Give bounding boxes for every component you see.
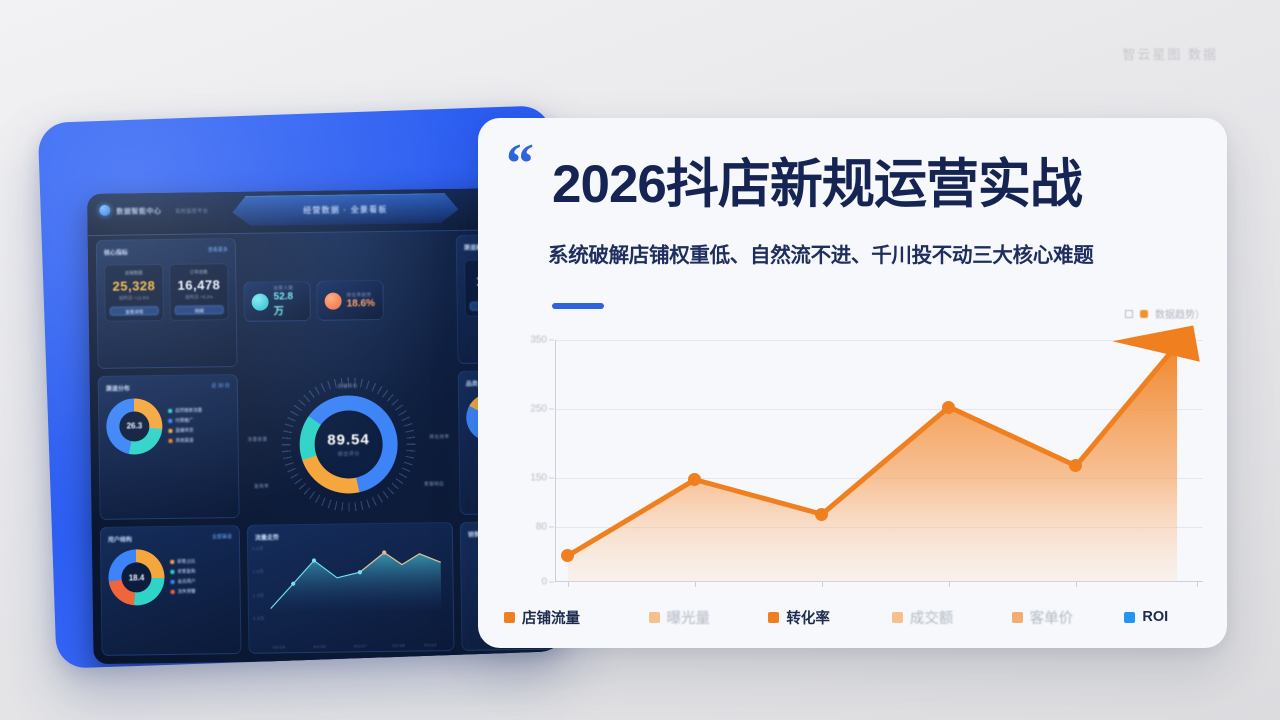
pill-value: 52.8万: [274, 292, 294, 318]
kpi-value: 16,478: [174, 277, 223, 293]
legend-swatch: [892, 612, 903, 623]
dashboard-card-traffic-area: 流量走势: [247, 522, 455, 654]
chart-meta: 数据趋势）: [1125, 306, 1205, 321]
axis-label: 01/18: [393, 643, 406, 648]
axis-label: 01/19: [424, 642, 437, 647]
legend-swatch: [1012, 612, 1023, 623]
content-card: “ 2026抖店新规运营实战 系统破解店铺权重低、自然流不进、千川投不动三大核心…: [478, 118, 1227, 648]
quote-mark-icon: “: [506, 136, 534, 192]
card-title: 流量走势: [255, 530, 445, 542]
legend-label: 其他渠道: [176, 437, 194, 443]
kpi-button[interactable]: 明细: [175, 305, 224, 315]
gauge-label: 客服响应: [424, 481, 444, 487]
dashboard-logo-icon: [99, 205, 110, 216]
visitor-icon: [252, 293, 269, 310]
dashboard-pill: 转化率趋势 18.6%: [316, 280, 383, 321]
donut-value: 26.3: [106, 398, 163, 455]
data-point: [942, 401, 955, 414]
legend-item-1[interactable]: 曝光量: [649, 607, 769, 628]
square-icon: [1125, 310, 1133, 318]
legend-label: 流失预警: [178, 589, 196, 595]
legend-swatch: [1124, 612, 1135, 623]
page-watermark: 智云星图 数据: [1122, 44, 1218, 63]
donut-value: 18.4: [108, 549, 165, 606]
legend-item-3[interactable]: 成交额: [892, 607, 1012, 628]
dashboard-header-chip-label: 经营数据 · 全景看板: [232, 203, 458, 217]
kpi-tile: 总销售额 25,328 较昨日 +12.5% 查看详情: [104, 264, 164, 322]
kpi-button[interactable]: 查看详情: [110, 306, 159, 316]
legend-label: ROI: [1142, 609, 1168, 625]
y-axis-label: 0: [541, 577, 547, 588]
legend-label: 曝光量: [667, 607, 711, 628]
dashboard-gauge-area: 89.54 综合评分 流量质量 转化效率 复购率 客服响应 店铺评分: [245, 371, 453, 518]
axis-label: 0.5万: [253, 615, 265, 621]
gauge-label: 复购率: [254, 483, 269, 489]
chart-meta-label: 数据趋势）: [1155, 306, 1205, 321]
dashboard-pill: 访客人数 52.8万: [243, 281, 310, 322]
card-action[interactable]: 查看更多: [208, 246, 228, 253]
page-title: 2026抖店新规运营实战: [552, 156, 1212, 213]
legend-label: 转化率: [786, 607, 830, 628]
card-action[interactable]: 近 30 日: [211, 382, 229, 389]
gauge-label: 店铺评分: [338, 384, 358, 390]
legend-label: 会员用户: [177, 579, 195, 585]
orange-swatch-icon: [1140, 310, 1148, 318]
dashboard-brand-sub: 实时监控平台: [175, 207, 208, 214]
axis-label: 01/16: [313, 644, 326, 649]
card-action[interactable]: 全部渠道: [212, 533, 232, 540]
legend-label: 成交额: [910, 607, 954, 628]
kpi-label: 订单总数: [174, 269, 223, 276]
gauge-label: 转化效率: [429, 434, 449, 440]
gauge-label: 流量质量: [248, 437, 268, 443]
axis-label: 1.0万: [253, 592, 265, 598]
dashboard-card-user-donut: 用户结构 全部渠道 18.4 新客占比 老客复购 会员用户 流失预警: [100, 525, 242, 656]
growth-chart: 350 250 150 80 0: [500, 330, 1213, 608]
legend-item-2[interactable]: 转化率: [768, 607, 891, 628]
donut-legend: 新客占比 老客复购 会员用户 流失预警: [170, 559, 196, 595]
legend-label: 客单价: [1030, 607, 1074, 628]
y-axis-label: 80: [536, 521, 547, 532]
legend-label: 自然搜索流量: [175, 407, 202, 413]
dashboard-card-kpi: 核心指标 查看更多 总销售额 25,328 较昨日 +12.5% 查看详情 订单…: [96, 238, 238, 369]
conversion-icon: [324, 292, 341, 309]
mini-area-chart: 2.0万 1.5万 1.0万 0.5万 01/15 01/16 01/17 01…: [268, 541, 445, 640]
donut-legend: 自然搜索流量 付费推广 直播带货 其他渠道: [168, 407, 202, 443]
axis-label: 1.5万: [252, 569, 264, 575]
kpi-label: 总销售额: [109, 270, 158, 277]
kpi-delta: 较昨日 +12.5%: [110, 295, 159, 302]
donut-chart: 26.3: [106, 398, 163, 455]
y-axis-label: 250: [530, 404, 547, 415]
legend-swatch: [504, 612, 515, 623]
legend-item-5[interactable]: ROI: [1124, 609, 1168, 625]
legend-item-0[interactable]: 店铺流量: [504, 607, 649, 628]
kpi-delta: 较昨日 +8.2%: [175, 294, 224, 301]
axis-label: 01/15: [273, 644, 286, 649]
chart-legend: 店铺流量 曝光量 转化率 成交额 客单价 ROI: [504, 604, 1209, 630]
gauge-caption: 综合评分: [338, 450, 360, 457]
legend-swatch: [768, 612, 779, 623]
chart-plot-area: 350 250 150 80 0: [555, 340, 1203, 582]
y-axis-label: 350: [530, 335, 547, 346]
gauge-value: 89.54: [327, 431, 370, 449]
legend-swatch: [649, 612, 660, 623]
legend-label: 付费推广: [175, 417, 193, 423]
axis-label: 01/17: [354, 643, 367, 648]
kpi-tile: 订单总数 16,478 较昨日 +8.2% 明细: [169, 263, 229, 321]
legend-label: 老客复购: [177, 569, 195, 575]
gauge-chart: 89.54 综合评分: [299, 395, 398, 494]
dashboard-header-chip: 经营数据 · 全景看板: [232, 193, 458, 226]
legend-label: 直播带货: [175, 427, 193, 433]
dashboard-pill-row: 访客人数 52.8万 转化率趋势 18.6%: [243, 235, 451, 367]
donut-chart: 18.4: [108, 549, 165, 606]
chart-arrow-head: [555, 340, 1203, 582]
legend-label: 新客占比: [177, 559, 195, 565]
page-subtitle: 系统破解店铺权重低、自然流不进、千川投不动三大核心难题: [548, 238, 1220, 268]
pill-value: 18.6%: [347, 298, 376, 309]
axis-label: 2.0万: [252, 546, 264, 552]
kpi-value: 25,328: [109, 278, 158, 294]
dashboard-brand: 数据智能中心: [116, 206, 161, 217]
legend-label: 店铺流量: [522, 607, 580, 628]
legend-item-4[interactable]: 客单价: [1012, 607, 1125, 628]
y-axis-label: 150: [530, 473, 547, 484]
dashboard-card-channel-donut: 渠道分布 近 30 日 26.3 自然搜索流量 付费推广 直播带货 其他渠道: [98, 374, 240, 520]
accent-bar: [552, 303, 604, 309]
